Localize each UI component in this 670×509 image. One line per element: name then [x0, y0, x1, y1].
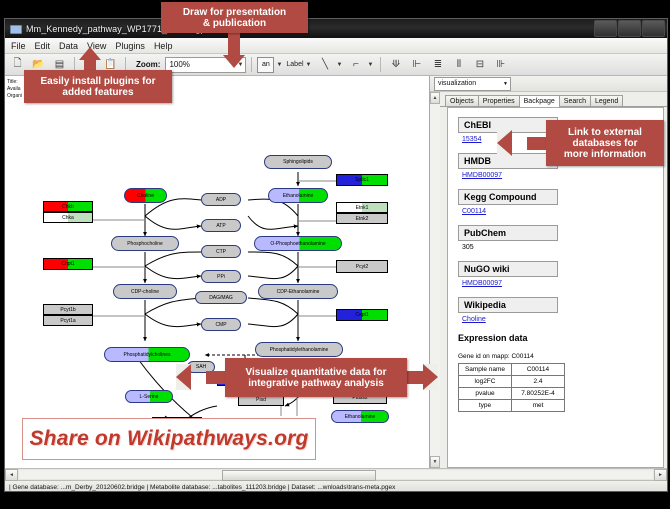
scroll-right-icon[interactable]: ► [654, 469, 667, 481]
section-header-pubchem: PubChem [458, 225, 558, 241]
hmdb-link[interactable]: HMDB00097 [462, 172, 663, 179]
zoom-value: 100% [169, 60, 189, 69]
cell-label: log2FC [459, 376, 512, 388]
same-width-icon[interactable]: ⊟ [470, 55, 489, 74]
node-ppi[interactable]: PPi [201, 270, 241, 283]
node-cmp[interactable]: CMP [201, 318, 241, 331]
node-phosphatidylethanolamine[interactable]: Phosphatidylethanolamine [255, 342, 343, 357]
pathway-metadata: Title: Availa Organi [7, 79, 22, 100]
callout-plugins: Easily install plugins for added feature… [24, 70, 172, 103]
pathvisio-icon [10, 23, 21, 34]
section-header-nugo: NuGO wiki [458, 261, 558, 277]
node-l-serine-left[interactable]: L-Serine [125, 390, 173, 403]
node-label: Sphingolipids [283, 159, 313, 165]
scroll-up-icon[interactable]: ▲ [430, 92, 440, 104]
meta-title: Title: [7, 79, 22, 86]
tab-legend[interactable]: Legend [590, 95, 623, 106]
window-titlebar: Mm_Kennedy_pathway_WP1771_45176.gpml [5, 19, 667, 38]
callout-visualize-arrow-right [423, 364, 438, 390]
cell-value: C00114 [512, 364, 565, 376]
node-sphingolipids[interactable]: Sphingolipids [264, 155, 332, 169]
tab-objects[interactable]: Objects [445, 95, 479, 106]
node-pcyt1a[interactable]: Pcyt1a [43, 315, 93, 326]
node-chpt1[interactable]: Chpt1 [43, 258, 93, 270]
cell-value: 7.80252E-4 [512, 388, 565, 400]
node-label: Pisd [256, 397, 266, 403]
wikipedia-link[interactable]: Choline [462, 316, 663, 323]
node-label: CDP-Ethanolamine [277, 289, 320, 295]
node-choline-top[interactable]: Choline [124, 188, 167, 203]
node-label: L-Serine [140, 394, 159, 400]
align-left-icon[interactable]: ⊩ [407, 55, 426, 74]
node-cdp-ethanolamine[interactable]: CDP-Ethanolamine [258, 284, 338, 299]
node-label: DAG/MAG [209, 295, 233, 301]
tab-search[interactable]: Search [559, 95, 591, 106]
cell-label: type [459, 400, 512, 412]
pathway-canvas-wrap[interactable]: Title: Availa Organi [5, 76, 430, 468]
align-center-icon[interactable]: ⟱ [386, 55, 405, 74]
callout-visualize-data: Visualize quantitative data for integrat… [225, 358, 407, 397]
distribute-vertical-icon[interactable]: ≣ [428, 55, 447, 74]
node-label: Sptlc1 [355, 177, 369, 183]
callout-links-arrow [497, 130, 512, 156]
meta-availability: Availa [7, 86, 22, 93]
spacer [458, 251, 663, 259]
node-label: Pcyt1b [60, 307, 75, 313]
chevron-down-icon[interactable]: ▼ [276, 62, 282, 68]
cell-value: met [512, 400, 565, 412]
node-label: Chpt1 [61, 261, 74, 267]
callout-visualize-arrow-left [176, 364, 191, 390]
nugo-link[interactable]: HMDB00097 [462, 280, 663, 287]
table-row: Sample name C00114 [459, 364, 565, 376]
visualization-value: visualization [438, 80, 476, 87]
zoom-label: Zoom: [136, 60, 160, 69]
node-label: Chkb [62, 204, 74, 210]
label-tool[interactable]: Label ▼ [286, 61, 313, 68]
connector-icon[interactable]: ⌐ [346, 55, 365, 74]
window-controls[interactable] [593, 20, 667, 37]
menu-item-edit[interactable]: Edit [35, 41, 51, 51]
cell-label: pvalue [459, 388, 512, 400]
section-header-kegg: Kegg Compound [458, 189, 558, 205]
node-label: Etnk2 [356, 216, 369, 222]
node-ethanolamine-bottom[interactable]: Ethanolamine [331, 410, 389, 423]
node-label: Pcyt2 [356, 264, 369, 270]
maximize-button[interactable] [618, 20, 641, 37]
scroll-track[interactable] [19, 470, 653, 479]
tab-properties[interactable]: Properties [478, 95, 520, 106]
node-label: ADP [216, 197, 226, 203]
node-label: PPi [217, 274, 225, 280]
table-row: type met [459, 400, 565, 412]
scroll-left-icon[interactable]: ◄ [5, 469, 18, 481]
visualization-row[interactable]: visualization ▼ [430, 76, 667, 92]
line-tool[interactable]: ╲ ▼ [315, 55, 344, 74]
visualization-combobox[interactable]: visualization ▼ [434, 77, 511, 91]
scroll-down-icon[interactable]: ▼ [430, 456, 440, 468]
node-ctp[interactable]: CTP [201, 245, 241, 258]
node-label: Etnk1 [356, 205, 369, 211]
node-label: Choline [137, 193, 154, 199]
chevron-down-icon[interactable]: ▼ [503, 81, 508, 87]
gene-id-line: Gene id on mapp: C00114 [458, 353, 663, 360]
node-label: O-Phosphoethanolamine [270, 241, 325, 247]
node-label: CMP [215, 322, 226, 328]
spacer [458, 179, 663, 187]
node-ethanolamine-top[interactable]: Ethanolamine [268, 188, 328, 203]
node-chka[interactable]: Chka [43, 212, 93, 223]
connector-tool[interactable]: ⌐ ▼ [346, 55, 375, 74]
node-etnk2[interactable]: Etnk2 [336, 213, 388, 224]
table-row: pvalue 7.80252E-4 [459, 388, 565, 400]
share-banner: Share on Wikipathways.org [22, 418, 316, 460]
node-dag-mag[interactable]: DAG/MAG [195, 291, 247, 304]
menu-item-data[interactable]: Data [59, 41, 78, 51]
menu-item-file[interactable]: File [11, 41, 26, 51]
chevron-down-icon[interactable]: ▼ [306, 62, 312, 68]
node-label: SAH [196, 364, 206, 370]
node-atp[interactable]: ATP [201, 219, 241, 232]
node-label: Phosphatidylethanolamine [270, 347, 329, 353]
callout-draw-arrow [223, 55, 245, 68]
node-o-phosphoethanolamine[interactable]: O-Phosphoethanolamine [254, 236, 342, 251]
node-label: Phosphocholine [127, 241, 163, 247]
kegg-link[interactable]: C00114 [462, 208, 663, 215]
node-label: Ethanolamine [283, 193, 314, 199]
node-label: CTP [216, 249, 226, 255]
callout-draw-for-publication: Draw for presentation & publication [161, 2, 308, 33]
node-label: Pcyt1a [60, 318, 75, 324]
chevron-down-icon[interactable]: ▼ [367, 62, 373, 68]
node-sptlc1[interactable]: Sptlc1 [336, 174, 388, 186]
node-pcyt2[interactable]: Pcyt2 [336, 260, 388, 273]
node-label: ATP [216, 223, 225, 229]
chevron-down-icon[interactable]: ▼ [336, 62, 342, 68]
spacer [458, 215, 663, 223]
line-icon[interactable]: ╲ [315, 55, 334, 74]
node-label: Cept1 [355, 312, 368, 318]
close-button[interactable] [642, 20, 665, 37]
share-banner-text: Share on Wikipathways.org [29, 427, 308, 451]
tab-backpage[interactable]: Backpage [519, 95, 560, 107]
cell-label: Sample name [459, 364, 512, 376]
menu-item-help[interactable]: Help [154, 41, 173, 51]
node-label: Ethanolamine [345, 414, 376, 420]
scroll-track[interactable] [430, 104, 440, 456]
spacer [458, 287, 663, 295]
section-header-wikipedia: Wikipedia [458, 297, 558, 313]
toolbar-separator-4 [380, 57, 381, 72]
meta-organism: Organi [7, 93, 22, 100]
pubchem-value: 305 [462, 244, 663, 251]
screenshot-root: Mm_Kennedy_pathway_WP1771_45176.gpml Fil… [0, 0, 670, 509]
same-height-icon[interactable]: ⊪ [491, 55, 510, 74]
cell-value: 2.4 [512, 376, 565, 388]
distribute-horizontal-icon[interactable]: ⦀ [449, 55, 468, 74]
node-label: Phosphatidylcholines [124, 352, 171, 358]
panel-vertical-scrollbar[interactable]: ▲ ▼ [430, 92, 440, 468]
node-chkb[interactable]: Chkb [43, 201, 93, 212]
datanode-tool[interactable]: an ▼ [257, 57, 284, 73]
menubar[interactable]: File Edit Data View Plugins Help [5, 38, 667, 54]
expression-data-heading: Expression data [458, 333, 663, 343]
node-cept1[interactable]: Cept1 [336, 309, 388, 321]
menu-item-plugins[interactable]: Plugins [115, 41, 145, 51]
panel-tabs[interactable]: Objects Properties Backpage Search Legen… [440, 92, 667, 107]
node-phosphatidylcholines[interactable]: Phosphatidylcholines [104, 347, 190, 362]
table-row: log2FC 2.4 [459, 376, 565, 388]
node-pcyt1b[interactable]: Pcyt1b [43, 304, 93, 315]
statusbar-text: | Gene database: ...m_Derby_20120602.bri… [9, 484, 395, 491]
datanode-icon[interactable]: an [257, 57, 274, 73]
callout-plugins-arrow [79, 47, 101, 60]
node-label: Chka [62, 215, 74, 221]
pathway-canvas[interactable]: Title: Availa Organi [5, 76, 429, 468]
callout-external-links: Link to external databases for more info… [546, 120, 664, 166]
label-tool-text[interactable]: Label [286, 61, 303, 68]
node-etnk1[interactable]: Etnk1 [336, 202, 388, 213]
scroll-thumb[interactable] [222, 470, 376, 481]
minimize-button[interactable] [594, 20, 617, 37]
statusbar: | Gene database: ...m_Derby_20120602.bri… [5, 480, 667, 492]
node-label: CDP-choline [131, 289, 159, 295]
node-cdp-choline[interactable]: CDP-choline [113, 284, 177, 299]
expression-data-table: Sample name C00114 log2FC 2.4 pvalue 7.8… [458, 363, 565, 412]
canvas-horizontal-scrollbar[interactable]: ◄ ► [5, 468, 667, 480]
node-phosphocholine[interactable]: Phosphocholine [111, 236, 179, 251]
toolbar-separator-3 [251, 57, 252, 72]
node-adp[interactable]: ADP [201, 193, 241, 206]
